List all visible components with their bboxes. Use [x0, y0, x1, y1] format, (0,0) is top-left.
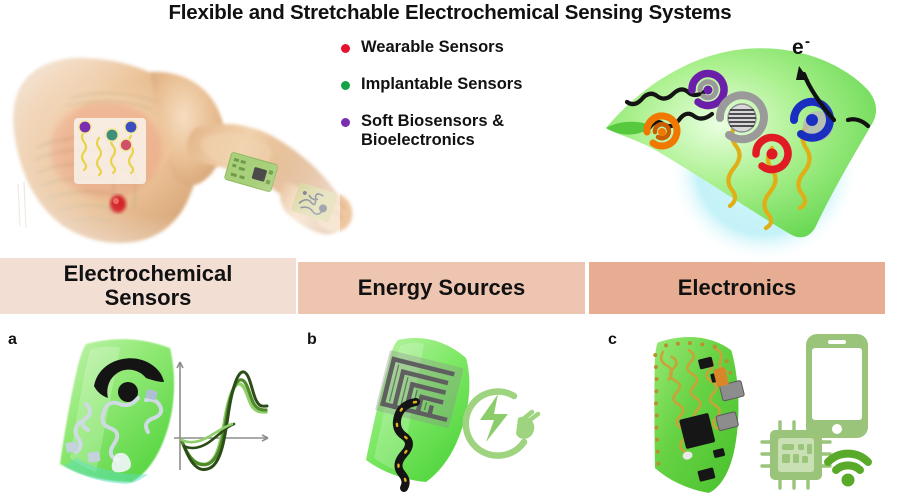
- microchip-icon: [762, 422, 830, 488]
- legend-item-wearable: Wearable Sensors: [341, 38, 591, 58]
- legend-item-soft-biosensors: Soft Biosensors & Bioelectronics: [341, 112, 591, 152]
- flexible-pcb: [637, 330, 757, 500]
- legend: Wearable Sensors Implantable Sensors Sof…: [341, 38, 591, 168]
- stretchable-membrane-illustration: e -: [596, 28, 900, 260]
- smartphone-icon: [806, 334, 868, 438]
- bullet-dot-icon: [341, 44, 350, 53]
- panel-letter-c: c: [608, 331, 617, 349]
- wifi-icon: [828, 454, 868, 487]
- human-torso-illustration: [0, 32, 340, 260]
- bullet-dot-icon: [341, 118, 350, 127]
- electron-label: e: [792, 36, 804, 59]
- cyclic-voltammogram-plot: [174, 362, 268, 470]
- banner-electronics[interactable]: Electronics: [589, 262, 885, 314]
- banner-label: Electronics: [678, 276, 797, 300]
- legend-label: Wearable Sensors: [361, 38, 504, 58]
- panel-a-electrochemical-sensors: [20, 330, 290, 498]
- legend-label: Soft Biosensors & Bioelectronics: [361, 112, 504, 152]
- panel-letter-a: a: [8, 331, 17, 349]
- bullet-dot-icon: [341, 81, 350, 90]
- power-bolt-plug-icon: [466, 392, 538, 456]
- cv-curves: [182, 372, 267, 470]
- panel-letter-b: b: [307, 331, 317, 349]
- panel-c-electronics: [620, 328, 900, 500]
- legend-item-implantable: Implantable Sensors: [341, 75, 591, 95]
- banner-label: Electrochemical Sensors: [64, 262, 233, 310]
- legend-label: Implantable Sensors: [361, 75, 522, 95]
- banner-label: Energy Sources: [358, 276, 526, 300]
- figure-canvas: Flexible and Stretchable Electrochemical…: [0, 0, 900, 500]
- banner-electrochemical-sensors[interactable]: Electrochemical Sensors: [0, 258, 296, 314]
- banner-energy-sources[interactable]: Energy Sources: [298, 262, 585, 314]
- panel-b-energy-sources: [320, 330, 585, 498]
- electron-charge-label: -: [805, 33, 810, 50]
- figure-title: Flexible and Stretchable Electrochemical…: [0, 1, 900, 25]
